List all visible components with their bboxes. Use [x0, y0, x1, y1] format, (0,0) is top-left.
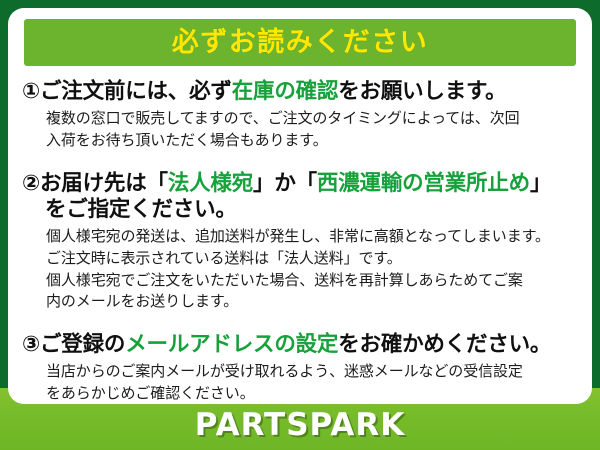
notice-item-2-body: 個人様宅宛の発送は、追加送料が発生し、非常に高額となってしまいます。ご注文時に表… [8, 226, 592, 313]
body-line: 当店からのご案内メールが受け取れるよう、迷惑メールなどの受信設定 [46, 361, 584, 383]
body-line: 内のメールをお送りします。 [46, 291, 584, 313]
body-line: ご注文時に表示されている送料は「法人送料」です。 [46, 248, 584, 270]
banner-title: 必ずお読みください [172, 29, 429, 56]
body-line: 個人様宅宛の発送は、追加送料が発生し、非常に高額となってしまいます。 [46, 226, 584, 248]
heading-text: をお確かめください。 [338, 332, 551, 357]
body-line: 個人様宅宛でご注文をいただいた場合、送料を再計算しあらためてご案 [46, 270, 584, 292]
heading-text: をお願いします。 [338, 79, 506, 104]
heading-highlight: 法人様宛 [168, 171, 253, 196]
title-banner: 必ずお読みください [24, 19, 576, 66]
notice-items-list: ①ご注文前には、必ず在庫の確認をお願いします。 複数の窓口で販売してますので、ご… [8, 72, 592, 404]
heading-text: 」 [530, 171, 551, 196]
notice-item-1: ①ご注文前には、必ず在庫の確認をお願いします。 複数の窓口で販売してますので、ご… [8, 79, 592, 152]
notice-item-2-heading: ②お届け先は「法人様宛」か「西濃運輸の営業所止め」 [8, 171, 592, 197]
notice-item-3-body: 当店からのご案内メールが受け取れるよう、迷惑メールなどの受信設定をあらかじめご確… [8, 361, 592, 404]
heading-highlight: メールアドレスの設定 [125, 332, 338, 357]
body-line: をあらかじめご確認ください。 [46, 383, 584, 404]
notice-panel: 必ずお読みください ①ご注文前には、必ず在庫の確認をお願いします。 複数の窓口で… [8, 8, 592, 404]
notice-card: 必ずお読みください ①ご注文前には、必ず在庫の確認をお願いします。 複数の窓口で… [0, 0, 600, 450]
heading-text: 」か「 [253, 171, 317, 196]
body-line: 複数の窓口で販売してますので、ご注文のタイミングによっては、次回 [46, 108, 584, 130]
notice-item-2-heading-continuation: をご指定ください。 [8, 197, 592, 223]
brand-wordmark: PARTSPARK [0, 410, 600, 441]
notice-item-3: ③ご登録のメールアドレスの設定をお確かめください。 当店からのご案内メールが受け… [8, 332, 592, 404]
heading-highlight: 西濃運輸の営業所止め [317, 171, 530, 196]
notice-item-1-body: 複数の窓口で販売してますので、ご注文のタイミングによっては、次回入荷をお待ち頂い… [8, 108, 592, 152]
heading-highlight: 在庫の確認 [232, 79, 339, 104]
heading-text: ②お届け先は「 [22, 171, 168, 196]
body-line: 入荷をお待ち頂いただく場合もあります。 [46, 130, 584, 152]
heading-text: ③ご登録の [22, 332, 125, 357]
notice-item-3-heading: ③ご登録のメールアドレスの設定をお確かめください。 [8, 332, 592, 358]
notice-item-1-heading: ①ご注文前には、必ず在庫の確認をお願いします。 [8, 79, 592, 105]
notice-item-2: ②お届け先は「法人様宛」か「西濃運輸の営業所止め」 をご指定ください。 個人様宅… [8, 171, 592, 313]
heading-text: ①ご注文前には、必ず [22, 79, 232, 104]
